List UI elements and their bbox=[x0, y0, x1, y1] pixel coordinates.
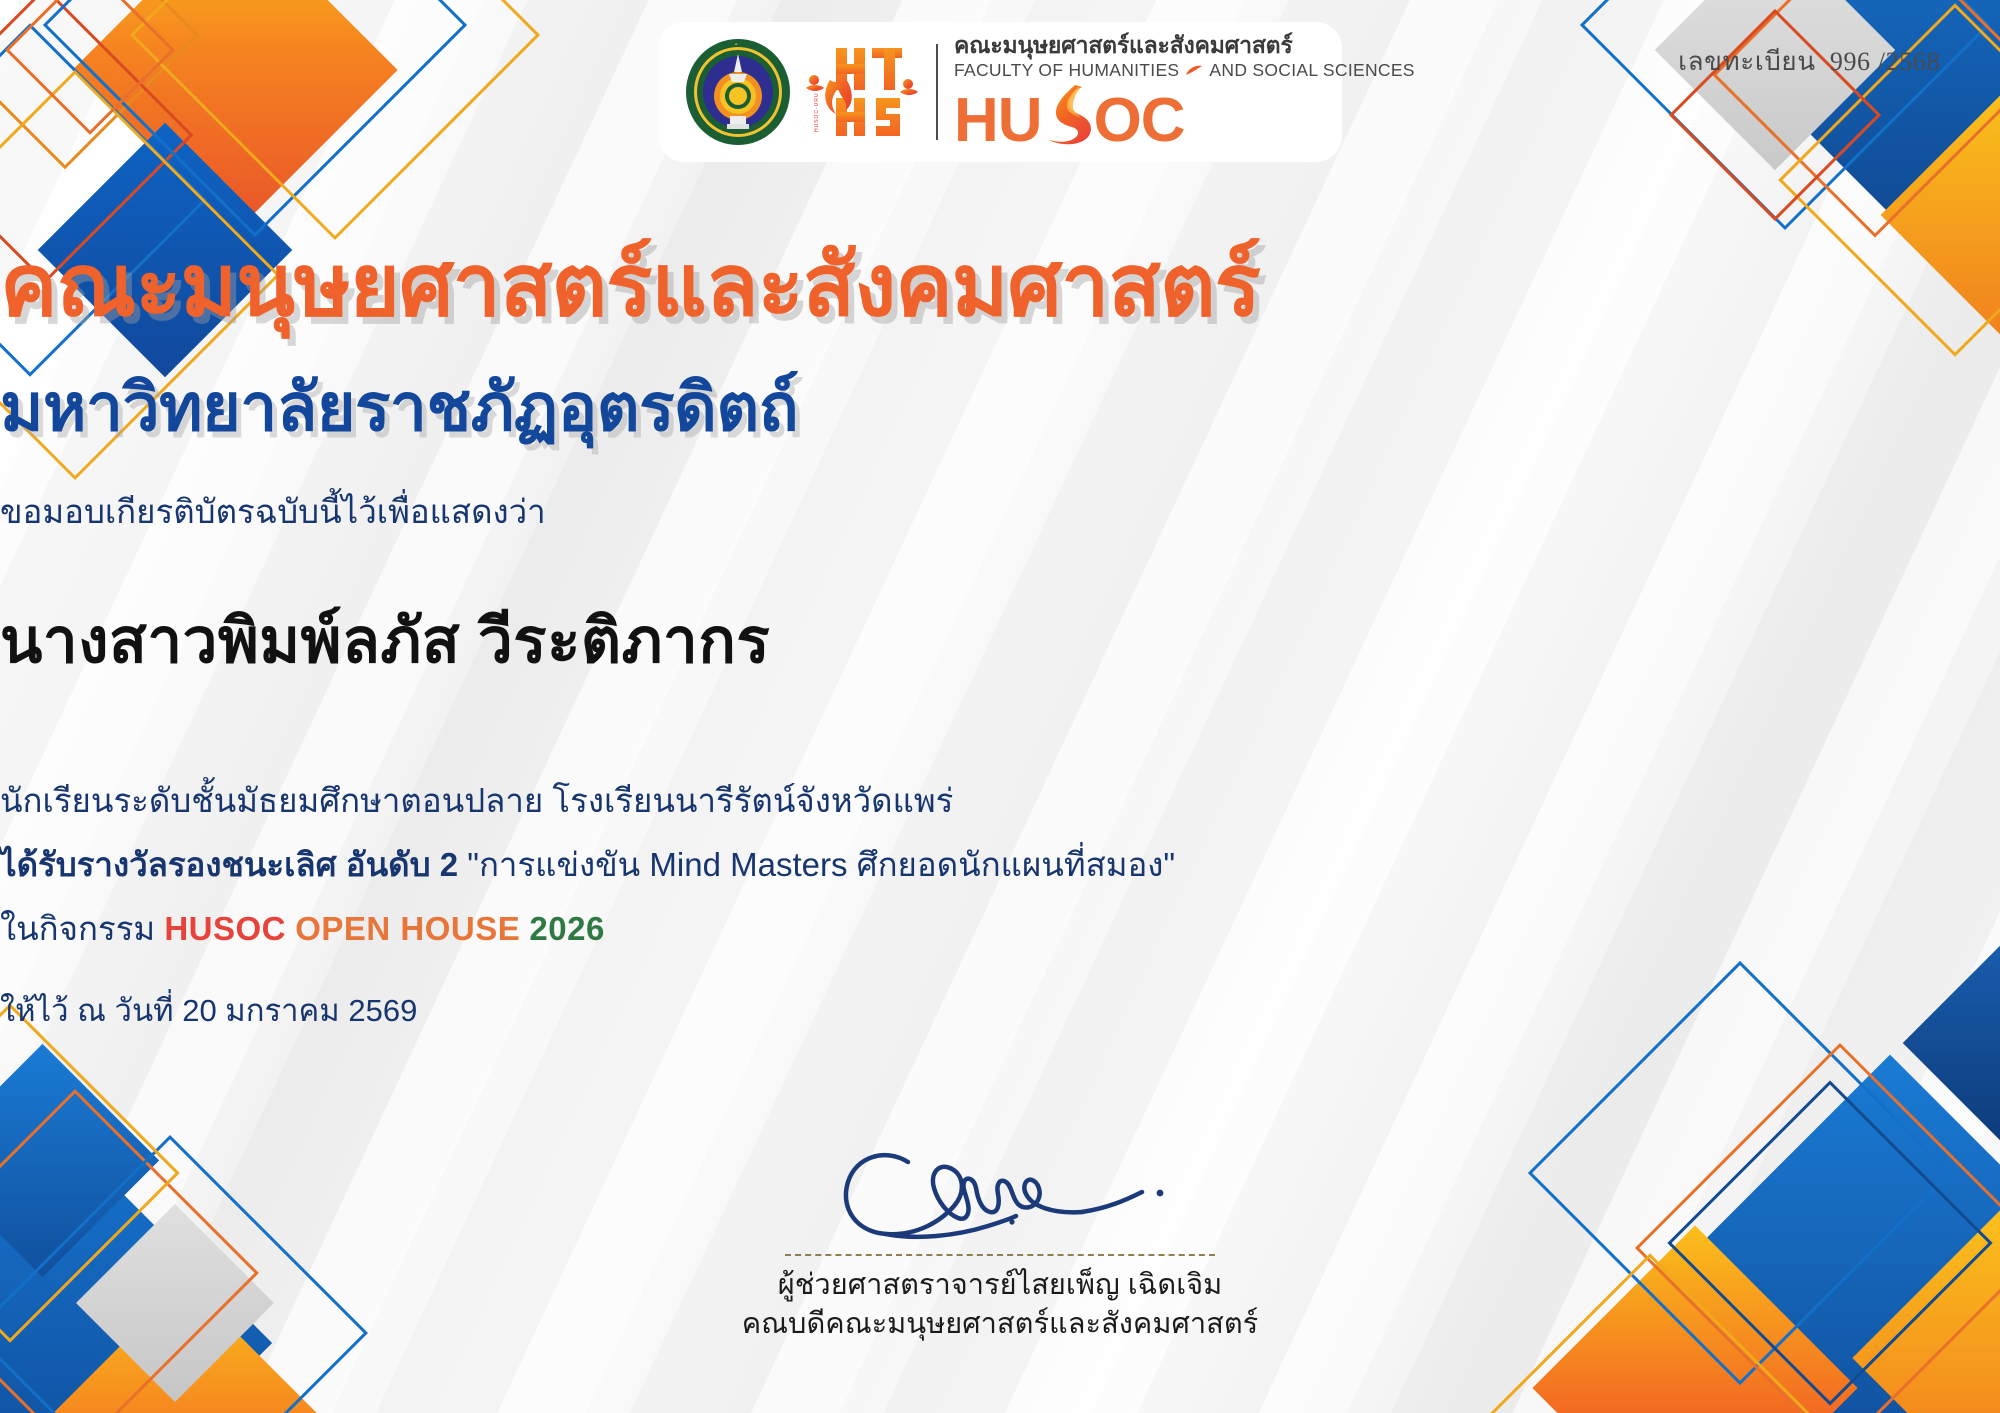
husoc-wordmark: HU OC bbox=[954, 79, 1415, 151]
header-logo-pill: ็ bbox=[658, 22, 1342, 162]
event-name-husoc: HUSOC bbox=[164, 910, 286, 947]
diamond-filled-blue bbox=[0, 1131, 272, 1413]
diamond-outline-navy bbox=[1667, 1080, 1992, 1405]
registration-number: เลขทะเบียน 996 /2568 bbox=[1678, 41, 1940, 82]
award-line: ได้รับรางวัลรองชนะเลิศ อันดับ 2 "การแข่ง… bbox=[0, 845, 2000, 885]
event-year: 2026 bbox=[529, 910, 604, 947]
certificate-title-line2: มหาวิทยาลัยราชภัฏอุตรดิตถ์ bbox=[0, 374, 2000, 440]
diamond-filled-blue-large bbox=[1657, 1055, 2000, 1413]
signature-rule bbox=[785, 1254, 1215, 1256]
diamond-outline-blue bbox=[0, 1135, 368, 1413]
registration-value: 996 bbox=[1830, 47, 1871, 76]
diamond-filled-blue bbox=[1736, 0, 2000, 244]
diamond-outline-orange bbox=[0, 1089, 259, 1413]
faculty-en-right: AND SOCIAL SCIENCES bbox=[1209, 60, 1414, 81]
diamond-outline-gold bbox=[0, 1003, 180, 1342]
registration-year: /2568 bbox=[1878, 47, 1940, 76]
diamond-outline-blue bbox=[1580, 0, 1990, 230]
recipient-school-line: นักเรียนระดับชั้นมัธยมศึกษาตอนปลาย โรงเร… bbox=[0, 781, 2000, 821]
logo-divider bbox=[936, 44, 938, 140]
diamond-filled-navy bbox=[1903, 916, 2000, 1171]
certificate-subtitle: ขอมอบเกียรติบัตรฉบับนี้ไว้เพื่อแสดงว่า bbox=[0, 492, 2000, 532]
diamond-filled-orange bbox=[8, 1281, 362, 1413]
diamond-filled-blue-small bbox=[0, 1044, 159, 1277]
husoc-flame-s-icon bbox=[1042, 79, 1094, 141]
diamond-outline-orange bbox=[1635, 1043, 2000, 1413]
diamond-outline-gold bbox=[1480, 1253, 1819, 1413]
award-rank: ได้รับรางวัลรองชนะเลิศ อันดับ 2 bbox=[0, 846, 458, 883]
faculty-name-thai: คณะมนุษยศาสตร์และสังคมศาสตร์ bbox=[954, 33, 1415, 58]
faculty-name-block: คณะมนุษยศาสตร์และสังคมศาสตร์ FACULTY OF … bbox=[954, 33, 1415, 150]
event-name-open-house: OPEN HOUSE bbox=[295, 910, 520, 947]
diamond-filled-orange bbox=[1532, 1225, 1857, 1413]
handwritten-signature-icon bbox=[790, 1130, 1210, 1250]
diamond-outline-gold-large bbox=[130, 0, 540, 240]
activity-line: ในกิจกรรม HUSOC OPEN HOUSE 2026 bbox=[0, 909, 2000, 949]
diamond-filled-gray bbox=[1655, 0, 1895, 170]
recipient-name: นางสาวพิมพ์ลภัส วีระติภากร bbox=[0, 611, 2000, 673]
small-flame-icon bbox=[1185, 60, 1203, 81]
issue-date-line: ให้ไว้ ณ วันที่ 20 มกราคม 2569 bbox=[0, 992, 2000, 1029]
diamond-outline-blue-large bbox=[43, 0, 467, 237]
signer-name: ผู้ช่วยศาสตราจารย์ไสยเพ็ญ เฉิดเจิม bbox=[740, 1266, 1260, 1305]
university-seal-icon: ็ bbox=[684, 38, 792, 146]
award-competition-title: "การแข่งขัน Mind Masters ศึกยอดนักแผนที่… bbox=[467, 846, 1175, 883]
diamond-filled-amber bbox=[1852, 1195, 2000, 1413]
certificate-title-line1: คณะมนุษยศาสตร์และสังคมศาสตร์ bbox=[0, 243, 2000, 329]
husoc-wordmark-oc: OC bbox=[1094, 92, 1185, 151]
faculty-name-english: FACULTY OF HUMANITIES AND SOCIAL SCIENCE… bbox=[954, 60, 1415, 81]
activity-prefix: ในกิจกรรม bbox=[0, 910, 155, 947]
certificate-page: ็ bbox=[0, 0, 2000, 1413]
diamond-filled-orange bbox=[72, 0, 397, 233]
diamond-filled-gray bbox=[76, 1204, 274, 1402]
husoc-flame-mark-icon: HUSOC-URU bbox=[802, 40, 920, 144]
signer-role: คณบดีคณะมนุษยศาสตร์และสังคมศาสตร์ bbox=[740, 1305, 1260, 1344]
diamond-outline-orange bbox=[1712, 0, 2000, 238]
signature-block: ผู้ช่วยศาสตราจารย์ไสยเพ็ญ เฉิดเจิม คณบดี… bbox=[740, 1130, 1260, 1344]
svg-text:HUSOC-URU: HUSOC-URU bbox=[814, 92, 820, 132]
registration-label: เลขทะเบียน bbox=[1678, 47, 1816, 76]
husoc-wordmark-hu: HU bbox=[954, 92, 1042, 151]
diamond-outline-orange bbox=[0, 0, 199, 169]
diamond-outline-orange-small bbox=[5, 0, 175, 135]
faculty-en-left: FACULTY OF HUMANITIES bbox=[954, 60, 1179, 81]
